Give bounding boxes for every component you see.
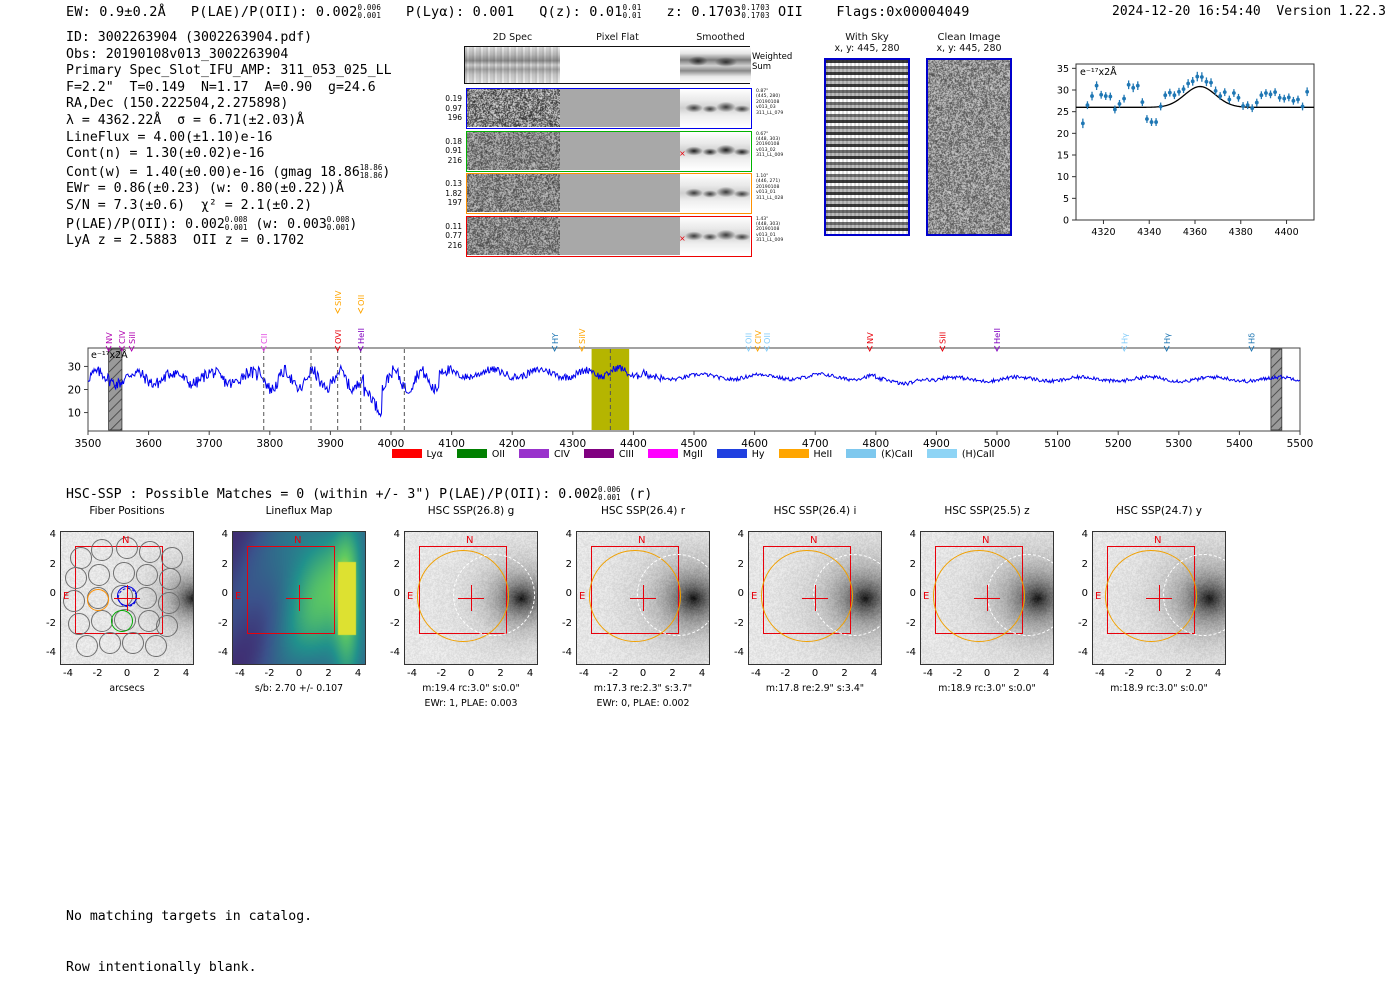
info-sn-chi2: S/N = 7.3(±0.6) χ² = 2.1(±0.2) [66, 198, 392, 215]
fiber-row-values: 0.11 0.77 216 [436, 222, 462, 251]
legend-swatch [457, 449, 487, 458]
compass-east-label: E [407, 591, 413, 602]
header-qz-errors: 0.010.01 [623, 4, 642, 20]
legend-label: (H)CaII [962, 449, 995, 460]
legend-item: MgII [648, 449, 703, 460]
mainspec-line-label: Hγ [1120, 333, 1130, 344]
zoomplot-ylabel: e⁻¹⁷x2Å [1080, 66, 1117, 78]
hsc-summary: HSC-SSP : Possible Matches = 0 (within +… [66, 485, 652, 502]
header-flags: Flags:0x00004049 [836, 4, 969, 20]
crosshair-vertical [127, 585, 128, 611]
info-radec: RA,Dec (150.222504,2.275898) [66, 96, 392, 113]
compass-east-label: E [579, 591, 585, 602]
footer-note: No matching targets in catalog. Row inte… [66, 874, 312, 993]
cutout-subtitle-with-sky: x, y: 445, 280 [824, 43, 910, 54]
panel-xtick-label: -2 [1120, 668, 1140, 679]
legend-label: MgII [683, 449, 703, 460]
panel-xtick-label: -2 [432, 668, 452, 679]
panel-caption-line1: m:18.9 rc:3.0" s:0.0" [1062, 683, 1256, 694]
panel-caption-line1: m:18.9 rc:3.0" s:0.0" [890, 683, 1084, 694]
mainspec-line-label-group: Hγ [1162, 333, 1172, 344]
zoomplot-point [1195, 75, 1199, 79]
zoomplot-point [1113, 108, 1117, 112]
zoomplot-point [1173, 93, 1177, 97]
panel-ytick-label: 0 [382, 588, 400, 599]
fiber-smoothed [680, 132, 750, 170]
panel-ytick-label: 0 [210, 588, 228, 599]
legend-label: Lyα [427, 449, 443, 460]
mainspec-line-label-group: SiIV [577, 328, 587, 344]
fiber-marker: × [679, 149, 686, 158]
legend-item: (K)CaII [846, 449, 913, 460]
zoomplot-point [1246, 103, 1250, 107]
info-lineflux: LineFlux = 4.00(±1.10)e-16 [66, 130, 392, 147]
zoomplot-point [1269, 92, 1273, 96]
fiber-row-panel [466, 88, 752, 129]
zoomplot-point [1122, 97, 1126, 101]
mainspec-highlight-band [592, 349, 630, 430]
legend-label: Hy [752, 449, 765, 460]
compass-east-label: E [751, 591, 757, 602]
cutout-image-with-sky [824, 58, 910, 236]
mainspec-line-label: Hδ [1247, 333, 1257, 344]
panel-ytick-label: -4 [898, 647, 916, 658]
hsc-summary-text: HSC-SSP : Possible Matches = 0 (within +… [66, 487, 598, 502]
panel-ytick-label: 0 [1070, 588, 1088, 599]
info-cont-w: Cont(w) = 1.40(±0.00)e-16 (gmag 18.8618.… [66, 163, 392, 182]
image-panel-title: Lineflux Map [210, 505, 388, 517]
panel-xtick-label: 2 [1007, 668, 1027, 679]
fiber-2dspec [467, 89, 560, 127]
zoomplot-point [1200, 75, 1204, 79]
zoomplot-point [1095, 84, 1099, 88]
legend-item: Lyα [392, 449, 443, 460]
image-panel-frame[interactable] [920, 531, 1054, 665]
compass-east-label: E [923, 591, 929, 602]
zoomplot-point [1099, 93, 1103, 97]
panel-ytick-label: -4 [38, 647, 56, 658]
mainspec-line-label: SiIV [333, 290, 343, 306]
panel-ytick-label: 2 [1070, 559, 1088, 570]
panel-ytick-label: 0 [38, 588, 56, 599]
zoomplot-xtick-label: 4380 [1229, 227, 1253, 238]
panel-xtick-label: -2 [948, 668, 968, 679]
mosaic-title-pixelflat: Pixel Flat [565, 32, 670, 43]
mainspec-line-label-group: CII [259, 333, 269, 344]
panel-caption-line1: m:17.8 re:2.9" s:3.4" [718, 683, 912, 694]
panel-xtick-label: 4 [864, 668, 884, 679]
highlight-fiber-circle [87, 589, 109, 611]
panel-ytick-label: 0 [898, 588, 916, 599]
header-qz: Q(z): 0.01 [539, 4, 622, 20]
zoomplot-point [1177, 90, 1181, 94]
mainspec-masked-band [1271, 349, 1282, 430]
mainspec-line-label-group: OII [356, 295, 366, 306]
image-panel-frame[interactable] [232, 531, 366, 665]
aperture-box [247, 546, 335, 634]
zoomplot-point [1209, 81, 1213, 85]
mainspec-line-label-group: NV [865, 332, 875, 344]
mainspec-line-label: SiII [938, 332, 948, 344]
panel-xtick-label: 0 [805, 668, 825, 679]
info-ewr: EWr = 0.86(±0.23) (w: 0.80(±0.22))Å [66, 181, 392, 198]
panel-overlay [749, 532, 881, 664]
fiber-circle [99, 632, 121, 654]
zoomplot-ytick-label: 30 [1057, 86, 1069, 97]
cutout-title-with-sky: With Sky [824, 32, 910, 43]
header-z: z: 0.1703 [666, 4, 741, 20]
crosshair-vertical [299, 585, 300, 611]
panel-xtick-label: 0 [977, 668, 997, 679]
full-spectrum-plot: 1020303500360037003800390040004100420043… [60, 262, 1340, 472]
mainspec-line-label-group: OII [762, 333, 772, 344]
panel-ytick-label: 0 [726, 588, 744, 599]
header-plae-poii: P(LAE)/P(OII): 0.002 [191, 4, 358, 20]
legend-item: CIII [584, 449, 634, 460]
legend-label: OII [492, 449, 505, 460]
panel-overlay [233, 532, 365, 664]
info-plae: P(LAE)/P(OII): 0.0020.0080.001 (w: 0.003… [66, 215, 392, 234]
legend-item: OII [457, 449, 505, 460]
fiber-smoothed [680, 174, 750, 212]
zoomplot-point [1282, 97, 1286, 101]
weighted-sum-strip [464, 46, 750, 84]
crosshair-vertical [643, 585, 644, 611]
fiber-circle [122, 632, 144, 654]
image-panel-frame[interactable] [748, 531, 882, 665]
header-z-errors: 0.17030.1703 [741, 4, 769, 20]
legend-label: CIV [554, 449, 570, 460]
mainspec-line-bracket [335, 308, 340, 313]
compass-north-label: N [810, 535, 817, 546]
zoomplot-point [1273, 90, 1277, 94]
zoomplot-point [1131, 86, 1135, 90]
mainspec-line-label-group: OVI [333, 330, 343, 344]
legend-swatch [846, 449, 876, 458]
legend-label: CIII [619, 449, 634, 460]
panel-ytick-label: -2 [554, 618, 572, 629]
panel-ytick-label: -4 [1070, 647, 1088, 658]
zoomplot-point [1154, 120, 1158, 124]
zoomplot-point [1186, 82, 1190, 86]
panel-ytick-label: 0 [554, 588, 572, 599]
compass-north-label: N [638, 535, 645, 546]
panel-xtick-label: 0 [1149, 668, 1169, 679]
panel-ytick-label: 4 [554, 529, 572, 540]
zoomplot-point [1214, 89, 1218, 93]
panel-caption-line1: m:19.4 rc:3.0" s:0.0" [374, 683, 568, 694]
panel-caption-line1: m:17.3 re:2.3" s:3.7" [546, 683, 740, 694]
hsc-summary-band: (r) [621, 487, 653, 502]
info-lambda-sigma: λ = 4362.22Å σ = 6.71(±2.03)Å [66, 113, 392, 130]
panel-xtick-label: 4 [692, 668, 712, 679]
panel-xtick-label: -2 [260, 668, 280, 679]
info-cont-n: Cont(n) = 1.30(±0.02)e-16 [66, 146, 392, 163]
fiber-row-meta: 1.10" (446, 271) 20190108 v013_01 311_LL… [756, 174, 814, 201]
panel-ytick-label: -4 [382, 647, 400, 658]
zoomplot-xtick-label: 4320 [1091, 227, 1115, 238]
weighted-sum-smoothed [680, 47, 751, 83]
image-panel-frame[interactable] [576, 531, 710, 665]
panel-xtick-label: 4 [176, 668, 196, 679]
zoomplot-xtick-label: 4340 [1137, 227, 1161, 238]
panel-ytick-label: 4 [726, 529, 744, 540]
header-z-type: OII [778, 4, 803, 20]
panel-ytick-label: 2 [382, 559, 400, 570]
header-meta: 2024-12-20 16:54:40 Version 1.22.3 [1112, 4, 1386, 19]
zoomplot-point [1255, 101, 1259, 105]
zoomplot-point [1191, 79, 1195, 83]
panel-ytick-label: -2 [382, 618, 400, 629]
mosaic-title-smoothed: Smoothed [668, 32, 773, 43]
mainspec-line-label: OII [356, 295, 366, 306]
fiber-circle [158, 592, 180, 614]
zoomplot-point [1241, 104, 1245, 108]
panel-xtick-label: -4 [746, 668, 766, 679]
mainspec-line-label-group: SiIV [333, 290, 343, 306]
mainspec-line-label-group: SiII [938, 332, 948, 344]
mainspec-line-label-group: Hγ [1120, 333, 1130, 344]
zoomplot-xtick-label: 4360 [1183, 227, 1207, 238]
mainspec-line-label: OVI [333, 330, 343, 344]
zoomplot-point [1301, 105, 1305, 109]
fiber-smoothed [680, 89, 750, 127]
panel-ytick-label: 4 [1070, 529, 1088, 540]
compass-north-label: N [1154, 535, 1161, 546]
panel-ytick-label: -4 [726, 647, 744, 658]
zoomplot-ytick-label: 25 [1057, 107, 1069, 118]
header-ew: EW: 0.9±0.2Å [66, 4, 166, 20]
fiber-circle [139, 541, 161, 563]
mainspec-line-label-group: HeII [356, 328, 366, 344]
fiber-circle [91, 539, 113, 561]
image-panel-frame[interactable] [404, 531, 538, 665]
panel-xtick-label: 4 [520, 668, 540, 679]
panel-xtick-label: 4 [348, 668, 368, 679]
legend-swatch [584, 449, 614, 458]
panel-xtick-label: 0 [289, 668, 309, 679]
panel-ytick-label: 2 [726, 559, 744, 570]
legend-swatch [927, 449, 957, 458]
legend-item: Hy [717, 449, 765, 460]
zoomplot-point [1086, 103, 1090, 107]
panel-xtick-label: 2 [1179, 668, 1199, 679]
panel-xtick-label: -2 [88, 668, 108, 679]
zoomplot-point [1136, 84, 1140, 88]
legend-label: (K)CaII [881, 449, 913, 460]
fiber-circle [76, 635, 98, 657]
zoomplot-point [1227, 98, 1231, 102]
fiber-circle [113, 562, 135, 584]
panel-ytick-label: -2 [726, 618, 744, 629]
zoomplot-point [1159, 105, 1163, 109]
footer-line-2: Row intentionally blank. [66, 959, 312, 976]
fiber-circle [145, 635, 167, 657]
zoomplot-ytick-label: 20 [1057, 129, 1069, 140]
fiber-rows: 0.19 0.97 1960.87" (445, 280) 20190108 v… [436, 88, 816, 258]
fiber-row-panel [466, 131, 752, 172]
info-fwhm: F=2.2" T=0.149 N=1.17 A=0.90 g=24.6 [66, 80, 392, 97]
crosshair-vertical [815, 585, 816, 611]
fiber-row-meta: 0.67" (448, 303) 20190108 v013_02 311_LL… [756, 132, 814, 159]
panel-xtick-label: 2 [663, 668, 683, 679]
cutout-subtitle-clean: x, y: 445, 280 [926, 43, 1012, 54]
image-panel-frame[interactable] [1092, 531, 1226, 665]
panel-ytick-label: 4 [210, 529, 228, 540]
weighted-sum-label: Weighted Sum [752, 52, 792, 72]
fiber-row-values: 0.19 0.97 196 [436, 94, 462, 123]
info-obs: Obs: 20190108v013_3002263904 [66, 47, 392, 64]
legend-item: (H)CaII [927, 449, 995, 460]
panel-ytick-label: 2 [554, 559, 572, 570]
mainspec-line-label: SiIV [577, 328, 587, 344]
fiber-2dspec [467, 132, 560, 170]
compass-north-label: N [294, 535, 301, 546]
image-panel-row: Fiber PositionsNE-4-2024-4-2024arcsecsLi… [0, 505, 1400, 750]
panel-xtick-label: -4 [1090, 668, 1110, 679]
compass-north-label: N [122, 535, 129, 546]
zoomplot-point [1259, 93, 1263, 97]
fiber-circle [159, 568, 181, 590]
panel-ytick-label: -2 [38, 618, 56, 629]
fiber-circle [70, 547, 92, 569]
image-panel-title: HSC SSP(24.7) y [1070, 505, 1248, 517]
panel-ytick-label: 2 [210, 559, 228, 570]
compass-east-label: E [235, 591, 241, 602]
mainspec-line-label-group: HY [550, 332, 560, 344]
zoomplot-point [1218, 94, 1222, 98]
info-id: ID: 3002263904 (3002263904.pdf) [66, 30, 392, 47]
zoomplot-point [1182, 87, 1186, 91]
emission-line-legend: LyαOIICIVCIIIMgIIHyHeII(K)CaII(H)CaII [0, 444, 1400, 463]
mainspec-line-label-group: SiII [127, 332, 137, 344]
panel-xtick-label: 4 [1208, 668, 1228, 679]
mainspec-line-label: HeII [356, 328, 366, 344]
mainspec-line-label-group: CIV [117, 330, 127, 344]
panel-ytick-label: 4 [898, 529, 916, 540]
image-panel-title: HSC SSP(25.5) z [898, 505, 1076, 517]
cutout-title-clean: Clean Image [926, 32, 1012, 43]
fiber-row-values: 0.13 1.82 197 [436, 179, 462, 208]
mosaic-title-2dspec: 2D Spec [460, 32, 565, 43]
legend-item: CIV [519, 449, 570, 460]
zoomplot-point [1168, 91, 1172, 95]
panel-ytick-label: 2 [898, 559, 916, 570]
legend-label: HeII [814, 449, 833, 460]
panel-ytick-label: 2 [38, 559, 56, 570]
mainspec-line-label: SiII [127, 332, 137, 344]
panel-xtick-label: 2 [319, 668, 339, 679]
zoomplot-point [1205, 80, 1209, 84]
panel-overlay [577, 532, 709, 664]
source-circle [637, 554, 710, 636]
mainspec-ytick-label: 10 [68, 408, 81, 420]
panel-xtick-label: 4 [1036, 668, 1056, 679]
panel-xtick-label: 0 [117, 668, 137, 679]
zoomplot-point [1118, 102, 1122, 106]
panel-xtick-label: -4 [58, 668, 78, 679]
header-plya: P(Lyα): 0.001 [406, 4, 514, 20]
cutout-with-sky: With Sky x, y: 445, 280 [824, 32, 910, 54]
mainspec-masked-band [109, 349, 122, 430]
line-zoom-plot: 0510152025303543204340436043804400e⁻¹⁷x2… [1036, 52, 1326, 257]
mainspec-line-bracket [358, 308, 363, 313]
info-redshifts: LyA z = 2.5883 OII z = 0.1702 [66, 233, 392, 250]
zoomplot-point [1127, 83, 1131, 87]
cutout-image-clean [926, 58, 1012, 236]
panel-overlay [405, 532, 537, 664]
legend-swatch [519, 449, 549, 458]
fiber-row-values: 0.18 0.91 216 [436, 137, 462, 166]
compass-east-label: E [1095, 591, 1101, 602]
zoomplot-point [1163, 93, 1167, 97]
mainspec-ylabel: e⁻¹⁷x2Å [91, 349, 128, 361]
fiber-circle [65, 567, 87, 589]
panel-xtick-label: -4 [230, 668, 250, 679]
image-panel-title: Fiber Positions [38, 505, 216, 517]
image-panel-title: HSC SSP(26.4) i [726, 505, 904, 517]
zoomplot-ytick-label: 15 [1057, 151, 1069, 162]
crosshair-vertical [471, 585, 472, 611]
info-primary-spec: Primary Spec_Slot_IFU_AMP: 311_053_025_L… [66, 63, 392, 80]
zoomplot-ytick-label: 10 [1057, 172, 1069, 183]
zoomplot-ytick-label: 35 [1057, 64, 1069, 75]
panel-ytick-label: -2 [1070, 618, 1088, 629]
panel-overlay [921, 532, 1053, 664]
panel-overlay [61, 532, 193, 664]
mainspec-line-label: HeII [992, 328, 1002, 344]
zoomplot-point [1145, 117, 1149, 121]
fiber-row-meta: 0.87" (445, 280) 20190108 v013_03 311_LL… [756, 89, 814, 116]
fiber-circle [136, 564, 158, 586]
mainspec-line-label-group: HeII [992, 328, 1002, 344]
fiber-2dspec [467, 217, 560, 255]
source-circle [453, 554, 535, 636]
zoomplot-point [1232, 91, 1236, 95]
fiber-marker: × [679, 234, 686, 243]
panel-xtick-label: 0 [461, 668, 481, 679]
legend-swatch [717, 449, 747, 458]
fiber-circle [161, 547, 183, 569]
weighted-sum-2dspec [465, 47, 560, 83]
panel-xtick-label: 0 [633, 668, 653, 679]
mainspec-line-label-group: NV [104, 332, 114, 344]
panel-ytick-label: 4 [38, 529, 56, 540]
legend-swatch [779, 449, 809, 458]
compass-north-label: N [982, 535, 989, 546]
panel-overlay [1093, 532, 1225, 664]
image-panel-frame[interactable] [60, 531, 194, 665]
header-timestamp: 2024-12-20 16:54:40 [1112, 4, 1261, 19]
hsc-summary-errors: 0.0060.001 [598, 486, 621, 502]
mainspec-line-label: CII [259, 333, 269, 344]
cutout-clean-image: Clean Image x, y: 445, 280 [926, 32, 1012, 54]
panel-xtick-label: 2 [147, 668, 167, 679]
zoomplot-ytick-label: 5 [1063, 194, 1069, 205]
zoomplot-point [1296, 98, 1300, 102]
legend-swatch [648, 449, 678, 458]
mainspec-line-label: CIV [117, 330, 127, 344]
fiber-circle [88, 564, 110, 586]
image-panel-title: HSC SSP(26.4) r [554, 505, 732, 517]
legend-item: HeII [779, 449, 833, 460]
panel-xtick-label: -4 [574, 668, 594, 679]
header-plae-poii-errors: 0.0060.001 [357, 4, 381, 20]
header-summary-line: EW: 0.9±0.2Å P(LAE)/P(OII): 0.0020.0060.… [66, 3, 970, 20]
fiber-pixelflat [560, 132, 680, 170]
fiber-circle [156, 615, 178, 637]
fiber-2dspec [467, 174, 560, 212]
